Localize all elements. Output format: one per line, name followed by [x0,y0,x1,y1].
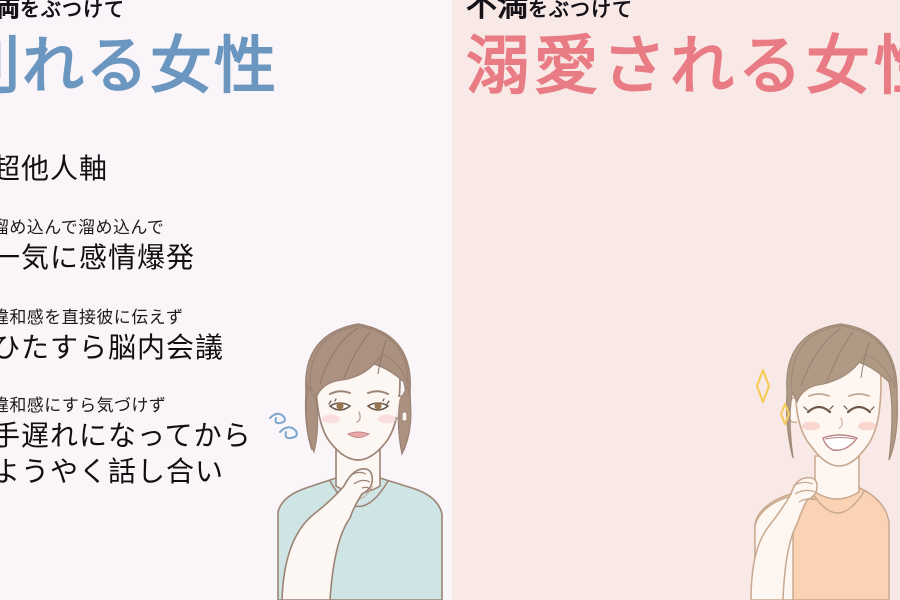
left-list: 超他人軸 溜め込んで溜め込んで 一気に感情爆発 違和感を直接彼に伝えず ひたすら… [0,152,292,490]
left-kicker-main: 不満 [0,0,20,23]
left-item-3-main2: ようやく話し合い [0,454,292,490]
left-heading: 別れる女性 [0,29,278,105]
left-item-2-sub: 違和感を直接彼に伝えず [0,306,292,330]
list-item: 違和感にすら気づけず 手遅れになってから ようやく話し合い [0,394,292,490]
comparison-infographic: 不満をぶつけて 別れる女性 超他人軸 溜め込んで溜め込んで 一気に感情爆発 違和… [0,0,900,600]
left-item-3-main: 手遅れになってから [0,418,292,454]
left-item-1-main: 一気に感情爆発 [0,240,292,276]
left-kicker: 不満をぶつけて [0,0,278,25]
right-heading-block: 不満をぶつけて 溺愛される女性 [466,0,900,105]
panel-right-beloved: 不満をぶつけて 溺愛される女性 明確な自分軸 少しでも違和感があったら その場で… [452,0,900,600]
list-item: 違和感を直接彼に伝えず ひたすら脳内会議 [0,306,292,366]
left-kicker-sub: をぶつけて [20,0,125,21]
right-kicker-main: 不満 [466,0,528,23]
right-kicker: 不満をぶつけて [466,0,900,25]
list-item: 超他人軸 [0,152,292,186]
right-kicker-sub: をぶつけて [528,0,633,21]
left-item-2-main: ひたすら脳内会議 [0,330,292,366]
smiling-woman-illustration [729,300,900,600]
worried-woman-illustration [258,300,452,600]
left-item-3-sub: 違和感にすら気づけず [0,394,292,418]
left-item-1-sub: 溜め込んで溜め込んで [0,216,292,240]
left-heading-block: 不満をぶつけて 別れる女性 [0,0,278,105]
list-item: 溜め込んで溜め込んで 一気に感情爆発 [0,216,292,276]
panel-left-breakup: 不満をぶつけて 別れる女性 超他人軸 溜め込んで溜め込んで 一気に感情爆発 違和… [0,0,452,600]
left-item-0-main: 超他人軸 [0,152,292,186]
right-heading: 溺愛される女性 [466,29,900,105]
